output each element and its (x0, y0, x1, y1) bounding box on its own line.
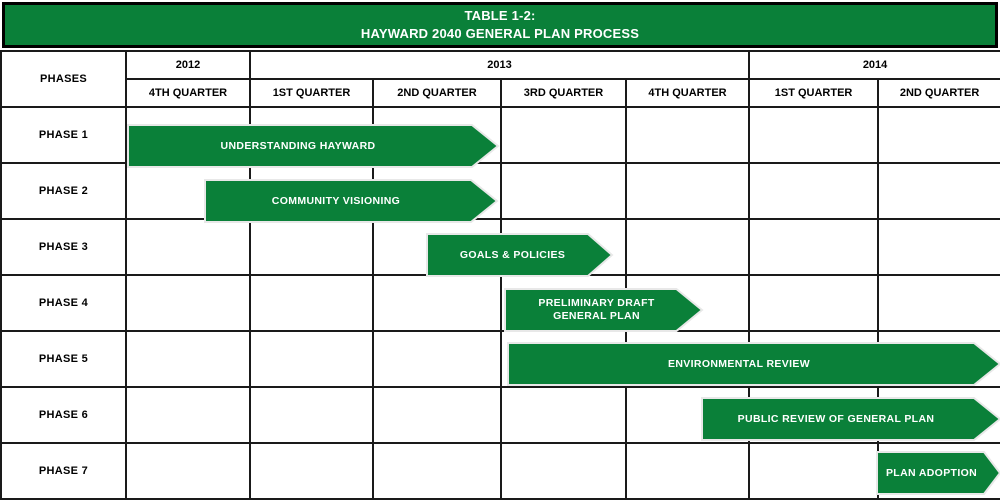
cell-p3-2013q4 (626, 219, 749, 275)
phase-bar-4[interactable]: PRELIMINARY DRAFTGENERAL PLAN (505, 289, 702, 331)
quarter-header-2013-q4: 4TH QUARTER (626, 79, 749, 107)
phase-bar-3[interactable]: GOALS & POLICIES (427, 234, 612, 276)
cell-p2-2013q4 (626, 163, 749, 219)
phase-label-2: PHASE 2 (1, 163, 126, 219)
cell-p7-2013q1 (250, 443, 373, 499)
cell-p3-2014q1 (749, 219, 878, 275)
cell-p7-2013q4 (626, 443, 749, 499)
table-row: PHASE 4 (1, 275, 1000, 331)
cell-p6-2013q1 (250, 387, 373, 443)
table-row: PHASE 2 (1, 163, 1000, 219)
phase-bar-label-7: PLAN ADOPTION (877, 452, 986, 494)
cell-p4-2012q4 (126, 275, 250, 331)
cell-p7-2013q3 (501, 443, 626, 499)
phase-bar-2[interactable]: COMMUNITY VISIONING (205, 180, 497, 222)
cell-p4-2014q2 (878, 275, 1000, 331)
phase-label-5: PHASE 5 (1, 331, 126, 387)
quarter-header-2013-q3: 3RD QUARTER (501, 79, 626, 107)
phase-bar-label-line-1: PRELIMINARY DRAFT (538, 297, 654, 310)
table-head: PHASES 2012 2013 2014 4TH QUARTER 1ST QU… (1, 51, 1000, 107)
phase-bar-6[interactable]: PUBLIC REVIEW OF GENERAL PLAN (702, 398, 1000, 440)
phase-bar-label-4: PRELIMINARY DRAFTGENERAL PLAN (505, 289, 688, 331)
phases-column-header: PHASES (1, 51, 126, 107)
cell-p4-2014q1 (749, 275, 878, 331)
phase-bar-1[interactable]: UNDERSTANDING HAYWARD (128, 125, 498, 167)
year-header-2012: 2012 (126, 51, 250, 79)
cell-p2-2013q3 (501, 163, 626, 219)
cell-p4-2013q1 (250, 275, 373, 331)
quarter-header-2013-q2: 2ND QUARTER (373, 79, 501, 107)
year-header-row: PHASES 2012 2013 2014 (1, 51, 1000, 79)
cell-p1-2013q3 (501, 107, 626, 163)
cell-p6-2012q4 (126, 387, 250, 443)
phase-label-1: PHASE 1 (1, 107, 126, 163)
cell-p7-2014q1 (749, 443, 878, 499)
cell-p5-2013q2 (373, 331, 501, 387)
phase-bar-5[interactable]: ENVIRONMENTAL REVIEW (508, 343, 1000, 385)
table-title-line-2: HAYWARD 2040 GENERAL PLAN PROCESS (361, 25, 639, 43)
cell-p3-2014q2 (878, 219, 1000, 275)
cell-p5-2013q1 (250, 331, 373, 387)
quarter-header-row: 4TH QUARTER 1ST QUARTER 2ND QUARTER 3RD … (1, 79, 1000, 107)
cell-p5-2012q4 (126, 331, 250, 387)
phase-label-6: PHASE 6 (1, 387, 126, 443)
phase-bar-label-1: UNDERSTANDING HAYWARD (128, 125, 468, 167)
cell-p3-2012q4 (126, 219, 250, 275)
phase-bar-label-6: PUBLIC REVIEW OF GENERAL PLAN (702, 398, 970, 440)
cell-p7-2012q4 (126, 443, 250, 499)
cell-p3-2013q1 (250, 219, 373, 275)
plan-process-table: TABLE 1-2: HAYWARD 2040 GENERAL PLAN PRO… (0, 0, 1000, 500)
cell-p2-2014q2 (878, 163, 1000, 219)
phase-label-3: PHASE 3 (1, 219, 126, 275)
cell-p7-2013q2 (373, 443, 501, 499)
phase-bar-label-line-2: GENERAL PLAN (553, 310, 640, 323)
cell-p1-2014q2 (878, 107, 1000, 163)
table-title-banner: TABLE 1-2: HAYWARD 2040 GENERAL PLAN PRO… (2, 2, 998, 48)
year-header-2013: 2013 (250, 51, 749, 79)
cell-p4-2013q2 (373, 275, 501, 331)
quarter-header-2014-q2: 2ND QUARTER (878, 79, 1000, 107)
cell-p6-2013q3 (501, 387, 626, 443)
phase-bar-label-3: GOALS & POLICIES (427, 234, 598, 276)
table-row: PHASE 7 (1, 443, 1000, 499)
cell-p2-2014q1 (749, 163, 878, 219)
phase-label-4: PHASE 4 (1, 275, 126, 331)
phase-label-7: PHASE 7 (1, 443, 126, 499)
cell-p6-2013q2 (373, 387, 501, 443)
table-title-line-1: TABLE 1-2: (464, 7, 535, 25)
quarter-header-2012-q4: 4TH QUARTER (126, 79, 250, 107)
phase-bar-7[interactable]: PLAN ADOPTION (877, 452, 1000, 494)
phase-bar-label-2: COMMUNITY VISIONING (205, 180, 467, 222)
quarter-header-2014-q1: 1ST QUARTER (749, 79, 878, 107)
cell-p1-2013q4 (626, 107, 749, 163)
quarter-header-2013-q1: 1ST QUARTER (250, 79, 373, 107)
year-header-2014: 2014 (749, 51, 1000, 79)
cell-p1-2014q1 (749, 107, 878, 163)
phase-bar-label-5: ENVIRONMENTAL REVIEW (508, 343, 970, 385)
